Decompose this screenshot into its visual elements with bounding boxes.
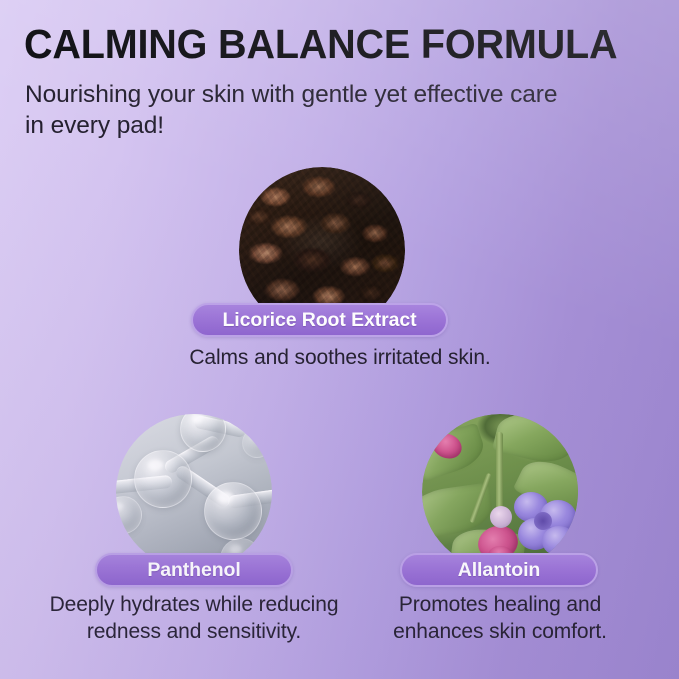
ingredient-description-line-1: Promotes healing and [310, 591, 679, 618]
ingredient-badge-label: Panthenol [147, 559, 240, 582]
panthenol-molecule-photo-image [116, 414, 272, 570]
plant-leaf [492, 414, 578, 469]
ingredient-description-allantoin: Promotes healing and enhances skin comfo… [310, 591, 679, 645]
molecule-atom-sphere [180, 414, 226, 452]
allantoin-plant-photo [422, 414, 578, 570]
ingredient-infographic-poster: CALMING BALANCE FORMULA Nourishing your … [0, 0, 679, 679]
flower-center [534, 512, 552, 530]
allantoin-plant-photo-image [422, 414, 578, 570]
molecule-atom-sphere [242, 428, 272, 458]
flower-bud [490, 506, 512, 528]
molecule-atom-sphere [116, 496, 142, 534]
ingredient-badge-licorice-root-extract[interactable]: Licorice Root Extract [191, 303, 448, 337]
ingredient-badge-panthenol[interactable]: Panthenol [95, 553, 293, 587]
molecule-atom-sphere [134, 450, 192, 508]
molecule-atom-sphere [204, 482, 262, 540]
ingredient-badge-allantoin[interactable]: Allantoin [400, 553, 598, 587]
panthenol-molecule-photo [116, 414, 272, 570]
ingredient-badge-label: Allantoin [458, 559, 541, 582]
ingredient-description-licorice-root-extract: Calms and soothes irritated skin. [100, 344, 580, 371]
ingredient-badge-label: Licorice Root Extract [222, 309, 416, 332]
flower-petal [542, 526, 576, 556]
ingredient-description-line-2: enhances skin comfort. [310, 618, 679, 645]
